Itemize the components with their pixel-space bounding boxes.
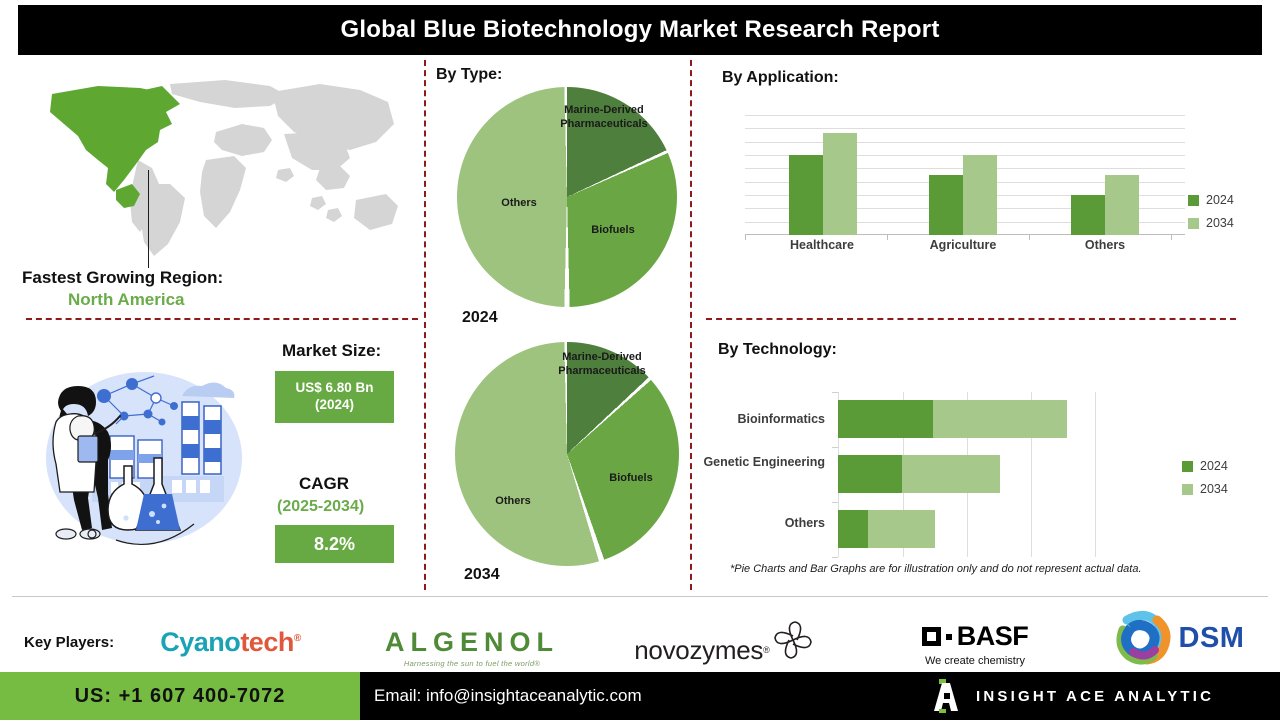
- logo-novozymes: novozymes ®: [634, 632, 814, 668]
- divider-vertical-left: [424, 60, 426, 590]
- page-footer: US: +1 607 400-7072 Email: info@insighta…: [0, 672, 1280, 720]
- divider-vertical-right: [690, 60, 692, 590]
- key-players-label: Key Players:: [24, 634, 114, 651]
- page-header: Global Blue Biotechnology Market Researc…: [18, 5, 1262, 55]
- fastest-growing-region-label: Fastest Growing Region:: [22, 268, 223, 288]
- bar-healthcare-2024: [789, 155, 823, 235]
- bar-others-2034: [1105, 175, 1139, 235]
- axis-tick: [745, 235, 746, 240]
- page-title: Global Blue Biotechnology Market Researc…: [340, 16, 939, 44]
- gridline: [1095, 392, 1096, 557]
- bar-others: [838, 510, 935, 548]
- application-bar-chart: [745, 115, 1185, 235]
- pie-2024-label-marine: Marine-Derived Pharmaceuticals: [556, 104, 652, 132]
- axis-tick: [832, 392, 838, 393]
- category-label-agriculture: Agriculture: [903, 238, 1023, 252]
- infographic-page: Global Blue Biotechnology Market Researc…: [0, 0, 1280, 720]
- logo-novozymes-mark: ®: [763, 645, 770, 655]
- pie-2034-label-marine: Marine-Derived Pharmaceuticals: [552, 351, 652, 379]
- technology-chart-legend: 2024 2034: [1182, 459, 1228, 505]
- logo-algenol: ALGENOL Harnessing the sun to fuel the w…: [372, 626, 572, 670]
- logo-basf: BASF We create chemistry: [900, 618, 1050, 670]
- axis-tick: [1029, 235, 1030, 240]
- logo-dsm-name: DSM: [1179, 622, 1245, 655]
- gridline: [745, 115, 1185, 116]
- divider-footer-top: [12, 596, 1268, 597]
- legend-swatch-2034: [1182, 484, 1193, 495]
- map-pointer-line: [148, 170, 149, 268]
- axis-tick: [887, 235, 888, 240]
- pie-2034-year: 2034: [464, 566, 500, 584]
- legend-swatch-2024: [1188, 195, 1199, 206]
- axis-tick: [1171, 235, 1172, 240]
- axis-tick: [832, 447, 838, 448]
- application-chart-legend: 2024 2034: [1188, 193, 1234, 239]
- gridline: [745, 128, 1185, 129]
- novozymes-clover-icon: [772, 620, 814, 662]
- fastest-growing-region-value: North America: [68, 290, 185, 310]
- bar-bioinformatics: [838, 400, 1067, 438]
- logo-cyanotech: Cyanotech®: [143, 625, 318, 659]
- category-label-bioinformatics: Bioinformatics: [675, 412, 825, 428]
- by-application-title: By Application:: [722, 69, 839, 87]
- market-size-box: US$ 6.80 Bn (2024): [275, 371, 394, 423]
- legend-item-2034: 2034: [1182, 482, 1228, 496]
- divider-horizontal-right: [706, 318, 1236, 320]
- gridline: [745, 142, 1185, 143]
- footer-email[interactable]: Email: info@insightaceanalytic.com: [360, 672, 920, 720]
- lab-scientist-illustration: [32, 358, 252, 563]
- bar-others-2034: [868, 510, 935, 548]
- legend-label-2034: 2034: [1200, 482, 1228, 496]
- footer-brand-name: INSIGHT ACE ANALYTIC: [976, 688, 1214, 705]
- dsm-swirl-icon: [1111, 610, 1173, 666]
- legend-label-2034: 2034: [1206, 216, 1234, 230]
- axis-tick: [832, 502, 838, 503]
- bar-agriculture-2034: [963, 155, 997, 235]
- legend-item-2034: 2034: [1188, 216, 1234, 230]
- market-size-year: (2024): [315, 397, 354, 412]
- axis-tick: [832, 557, 838, 558]
- footer-phone[interactable]: US: +1 607 400-7072: [0, 672, 360, 720]
- legend-swatch-2034: [1188, 218, 1199, 229]
- pie-2024-label-biofuels: Biofuels: [578, 224, 648, 238]
- cagr-value-box: 8.2%: [275, 525, 394, 563]
- pie-2024-year: 2024: [462, 309, 498, 327]
- by-type-title: By Type:: [436, 66, 502, 84]
- logo-basf-name: BASF: [957, 621, 1029, 652]
- logo-novozymes-name: novozymes: [634, 635, 763, 666]
- bar-agriculture-2024: [929, 175, 963, 235]
- logo-dsm: DSM: [1095, 610, 1260, 666]
- by-technology-title: By Technology:: [718, 341, 837, 359]
- cagr-period: (2025-2034): [277, 498, 364, 516]
- technology-bar-chart: [838, 392, 1118, 557]
- basf-dot-icon: [946, 634, 952, 640]
- logo-cyanotech-part1: Cyano: [160, 627, 240, 657]
- logo-basf-tagline: We create chemistry: [925, 655, 1025, 667]
- insightace-logo-icon: [928, 679, 962, 713]
- market-size-value: US$ 6.80 Bn: [295, 380, 373, 395]
- chart-footnote: *Pie Charts and Bar Graphs are for illus…: [730, 563, 1142, 575]
- divider-horizontal-left: [26, 318, 418, 320]
- logo-cyanotech-mark: ®: [294, 633, 301, 644]
- category-label-others: Others: [1045, 238, 1165, 252]
- footer-brand: INSIGHT ACE ANALYTIC: [920, 672, 1280, 720]
- pie-2034-label-others: Others: [480, 495, 546, 509]
- logo-cyanotech-part2: tech: [240, 627, 294, 657]
- category-label-genetic-engineering: Genetic Engineering: [675, 455, 825, 471]
- cagr-title: CAGR: [299, 474, 349, 494]
- bar-others-2024: [1071, 195, 1105, 235]
- bar-genetic-engineering: [838, 455, 1000, 493]
- legend-label-2024: 2024: [1200, 459, 1228, 473]
- category-label-healthcare: Healthcare: [762, 238, 882, 252]
- logo-algenol-name: ALGENOL: [385, 629, 559, 656]
- bar-bioinformatics-2024: [838, 400, 933, 438]
- market-size-title: Market Size:: [282, 341, 381, 361]
- legend-item-2024: 2024: [1188, 193, 1234, 207]
- category-label-others-tech: Others: [675, 516, 825, 532]
- bar-genetic-engineering-2024: [838, 455, 902, 493]
- bar-others-2024: [838, 510, 868, 548]
- pie-2024-label-others: Others: [486, 197, 552, 211]
- legend-label-2024: 2024: [1206, 193, 1234, 207]
- world-map: [20, 72, 420, 262]
- legend-swatch-2024: [1182, 461, 1193, 472]
- legend-item-2024: 2024: [1182, 459, 1228, 473]
- bar-genetic-engineering-2034: [902, 455, 1000, 493]
- bar-healthcare-2034: [823, 133, 857, 235]
- pie-2034-label-biofuels: Biofuels: [596, 472, 666, 486]
- basf-square-icon: [922, 627, 941, 646]
- bar-bioinformatics-2034: [933, 400, 1067, 438]
- logo-algenol-tagline: Harnessing the sun to fuel the world®: [404, 659, 540, 668]
